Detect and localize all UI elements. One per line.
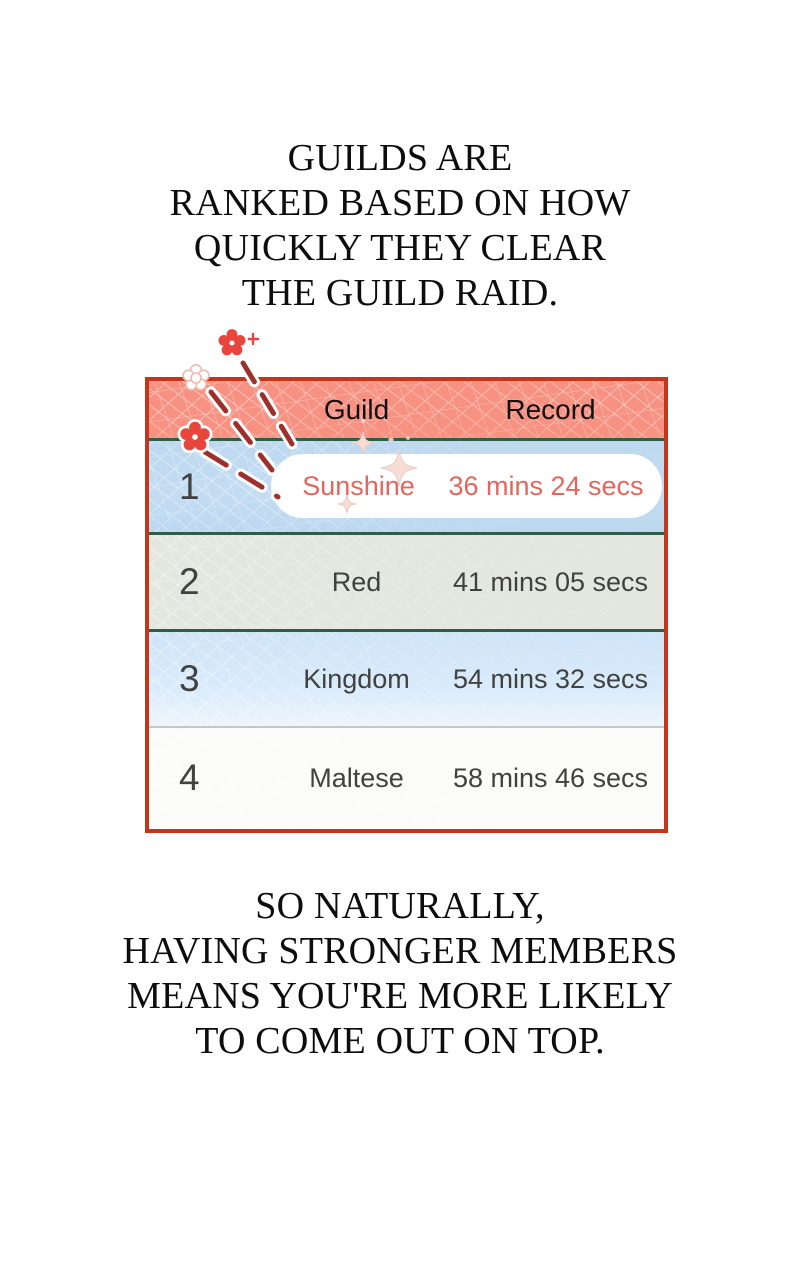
- row-guild-2: Red: [264, 567, 449, 598]
- separator-header: [149, 438, 664, 441]
- guild-ranking-table: Guild Record 1 Sunshine 36 mins 24 secs …: [145, 377, 668, 833]
- narration-text-top: GUILDS ARE RANKED BASED ON HOW QUICKLY T…: [0, 136, 800, 316]
- row-record-4: 58 mins 46 secs: [449, 763, 664, 794]
- row-rank-4: 4: [149, 757, 264, 799]
- row-record-1: 36 mins 24 secs: [446, 471, 662, 502]
- row-guild-1: Sunshine: [271, 471, 446, 502]
- separator-3: [149, 726, 664, 728]
- table-row[interactable]: 1 Sunshine 36 mins 24 secs: [149, 441, 664, 532]
- row-record-3: 54 mins 32 secs: [449, 664, 664, 695]
- table-header-row: Guild Record: [149, 381, 664, 438]
- row-rank-2: 2: [149, 561, 264, 603]
- row-guild-4: Maltese: [264, 763, 449, 794]
- table-row[interactable]: 2 Red 41 mins 05 secs: [149, 535, 664, 629]
- row-guild-3: Kingdom: [264, 664, 449, 695]
- flower-top-icon: [218, 329, 245, 356]
- header-cell-guild: Guild: [264, 394, 449, 426]
- table-row[interactable]: 4 Maltese 58 mins 46 secs: [149, 728, 664, 828]
- winner-highlight-pill: Sunshine 36 mins 24 secs: [271, 454, 662, 518]
- separator-1: [149, 532, 664, 535]
- separator-2: [149, 629, 664, 632]
- row-record-2: 41 mins 05 secs: [449, 567, 664, 598]
- cross-sparkle-icon: [248, 334, 258, 344]
- table-row[interactable]: 3 Kingdom 54 mins 32 secs: [149, 632, 664, 726]
- row-rank-3: 3: [149, 658, 264, 700]
- narration-text-bottom: SO NATURALLY, HAVING STRONGER MEMBERS ME…: [0, 884, 800, 1064]
- header-cell-record: Record: [449, 394, 664, 426]
- row-rank-1: 1: [149, 466, 264, 508]
